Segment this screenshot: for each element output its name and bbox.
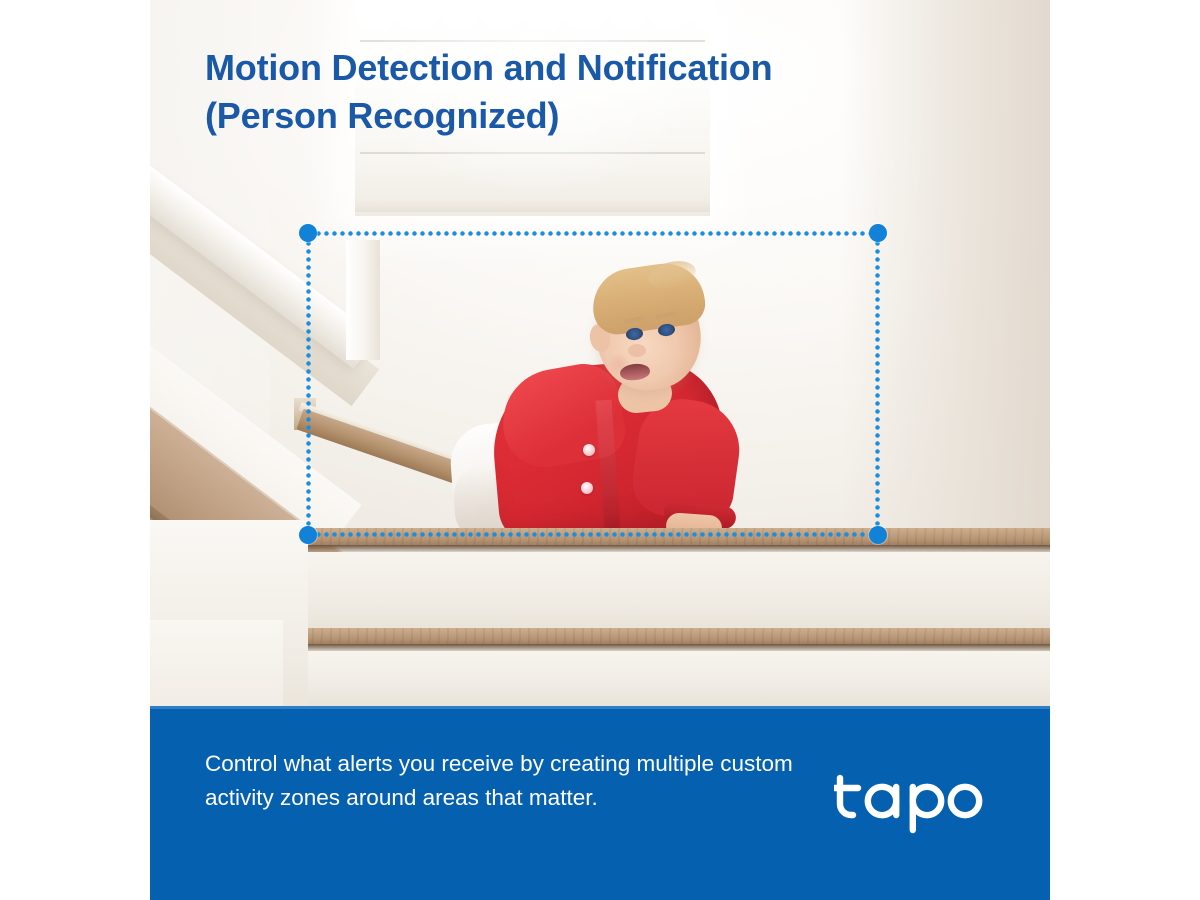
page-title: Motion Detection and Notification (Perso… [205,44,965,140]
feature-banner: Control what alerts you receive by creat… [150,706,1050,900]
zone-border-left [306,233,311,535]
stair-return-lower [150,620,283,706]
zone-handle-top-left[interactable] [299,224,317,242]
zone-border-right [875,233,880,535]
stairway-photo: Motion Detection and Notification (Perso… [150,0,1050,706]
product-feature-card: Motion Detection and Notification (Perso… [150,0,1050,900]
window-sill [355,198,710,212]
zone-handle-bottom-left[interactable] [299,526,317,544]
window-mullion-lower [360,152,705,154]
window-mullion-upper [360,40,705,42]
curtain-valance-scallops [355,12,710,30]
zone-border-top [308,231,878,236]
zone-handle-bottom-right[interactable] [869,526,887,544]
activity-detection-zone[interactable] [308,233,878,535]
page-canvas: Motion Detection and Notification (Perso… [0,0,1200,900]
zone-border-bottom [308,532,878,537]
tapo-logo [834,764,1006,834]
banner-description: Control what alerts you receive by creat… [205,747,805,815]
zone-handle-top-right[interactable] [869,224,887,242]
banner-top-hairline [150,706,1050,709]
